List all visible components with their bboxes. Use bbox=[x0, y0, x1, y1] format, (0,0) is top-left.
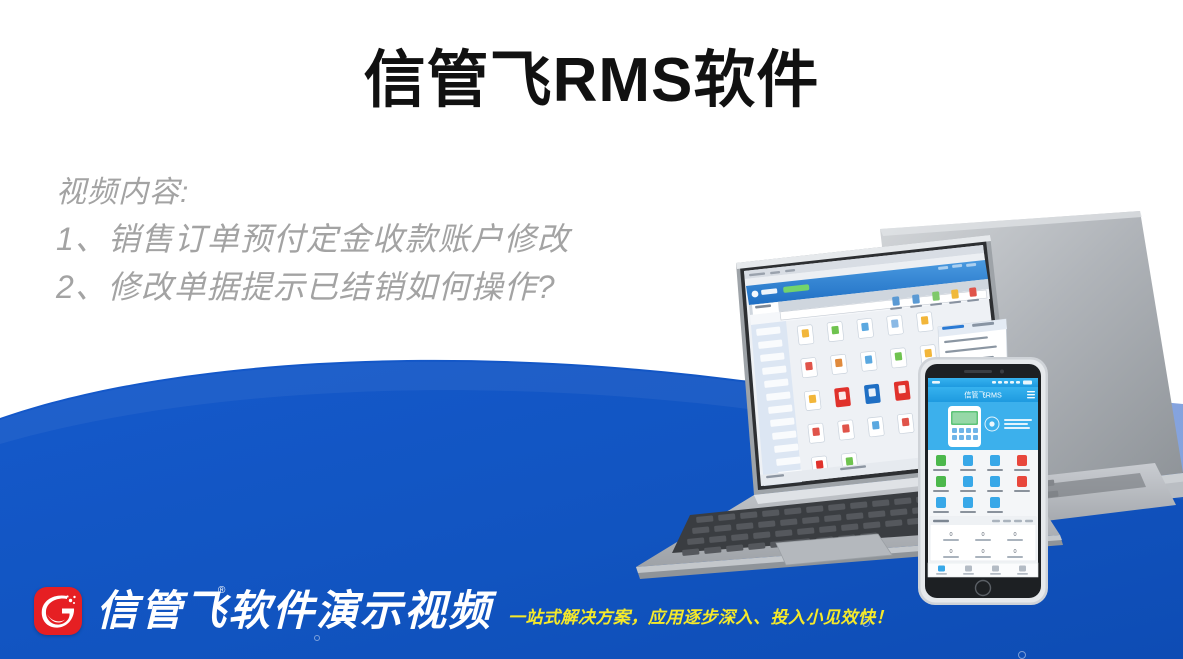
svg-text:0: 0 bbox=[1013, 549, 1016, 555]
svg-text:0: 0 bbox=[1013, 532, 1016, 538]
svg-text:0: 0 bbox=[949, 532, 952, 538]
video-content-item-2: 2、修改单据提示已结销如何操作? bbox=[56, 263, 570, 312]
footer-tagline: 一站式解决方案，应用逐步深入、投入小见效快！ bbox=[508, 603, 893, 628]
footer-brand-label: 信管飞软件演示视频 bbox=[96, 587, 492, 634]
svg-text:0: 0 bbox=[981, 532, 984, 538]
phone-app-title: 信管飞RMS bbox=[964, 391, 1002, 400]
xinguanfei-bird-logo-icon bbox=[34, 587, 82, 635]
slide-title: 信管飞RMS软件 bbox=[0, 44, 1183, 117]
footer-brand-bar: 信管飞软件演示视频 ® 一站式解决方案，应用逐步深入、投入小见效快！ bbox=[0, 563, 1183, 659]
video-content-lead: 视频内容: bbox=[56, 172, 570, 215]
footer-brand-name: 信管飞软件演示视频 ® bbox=[96, 590, 492, 632]
phone-stats-label bbox=[933, 520, 949, 522]
presentation-slide: 信管飞RMS软件 视频内容: 1、销售订单预付定金收款账户修改 2、修改单据提示… bbox=[0, 0, 1183, 659]
svg-text:0: 0 bbox=[949, 549, 952, 555]
device-mockup-group: 信管飞RMS bbox=[540, 205, 1183, 605]
video-content-item-1: 1、销售订单预付定金收款账户修改 bbox=[56, 215, 570, 264]
registered-trademark-mark: ® bbox=[218, 586, 227, 596]
svg-text:0: 0 bbox=[981, 549, 984, 555]
video-content-block: 视频内容: 1、销售订单预付定金收款账户修改 2、修改单据提示已结销如何操作? bbox=[56, 172, 570, 312]
